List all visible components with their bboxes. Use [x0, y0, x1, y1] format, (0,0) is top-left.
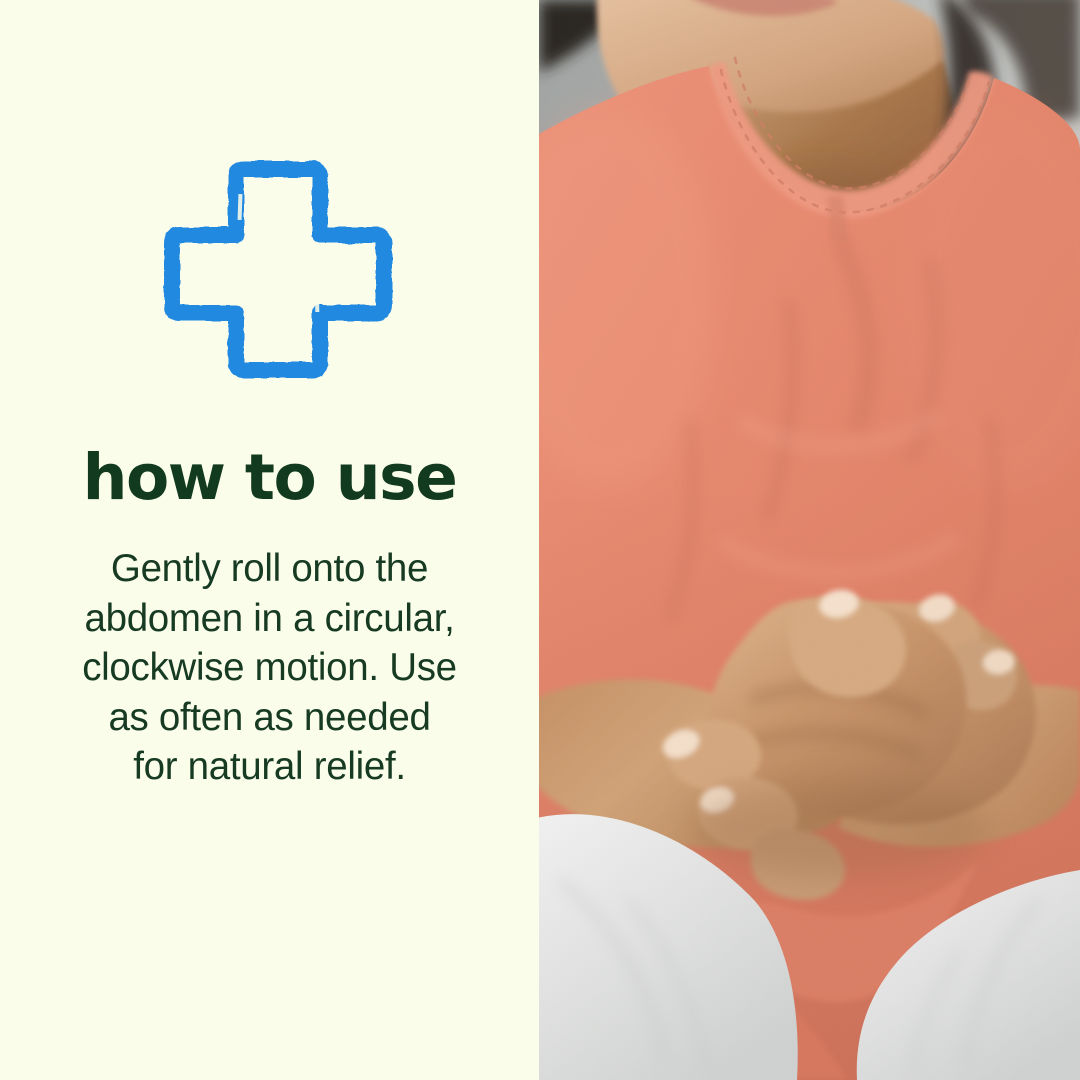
instructions-line: for natural relief.	[28, 742, 511, 792]
plus-cross-icon	[163, 152, 393, 386]
instructions-line: as often as needed	[28, 693, 511, 743]
instructions-text: Gently roll onto the abdomen in a circul…	[28, 544, 511, 792]
social-card-root: how to use Gently roll onto the abdomen …	[0, 0, 1080, 1080]
instructions-line: abdomen in a circular,	[28, 594, 511, 644]
instructions-line: clockwise motion. Use	[28, 643, 511, 693]
page-title: how to use	[0, 441, 539, 515]
child-holding-stomach-photo	[539, 0, 1080, 1080]
left-content-panel: how to use Gently roll onto the abdomen …	[0, 0, 539, 1080]
instructions-line: Gently roll onto the	[28, 544, 511, 594]
